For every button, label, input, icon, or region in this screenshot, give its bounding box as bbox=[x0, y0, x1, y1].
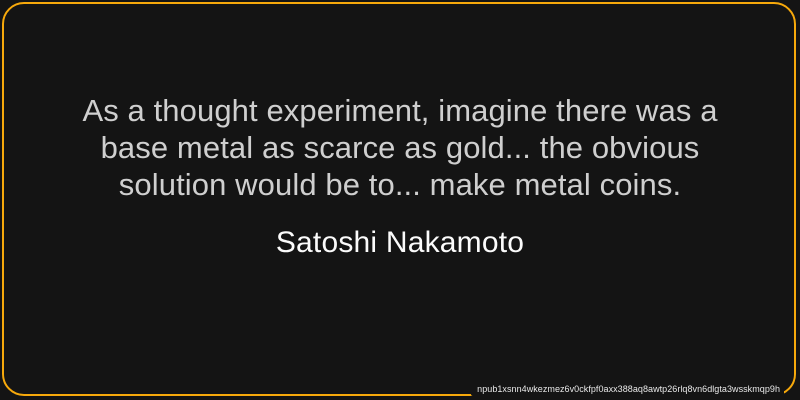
quote-line-3: solution would be to... make metal coins… bbox=[14, 166, 786, 203]
quote-text-block: As a thought experiment, imagine there w… bbox=[14, 92, 786, 203]
quote-author: Satoshi Nakamoto bbox=[276, 225, 524, 261]
quote-line-2: base metal as scarce as gold... the obvi… bbox=[14, 129, 786, 166]
npub-identifier: npub1xsnn4wkezmez6v0ckfpf0axx388aq8awtp2… bbox=[471, 382, 784, 396]
npub-identifier-text: npub1xsnn4wkezmez6v0ckfpf0axx388aq8awtp2… bbox=[477, 383, 780, 395]
quote-card: As a thought experiment, imagine there w… bbox=[0, 0, 800, 400]
card-content: As a thought experiment, imagine there w… bbox=[0, 0, 800, 400]
quote-line-1: As a thought experiment, imagine there w… bbox=[14, 92, 786, 129]
